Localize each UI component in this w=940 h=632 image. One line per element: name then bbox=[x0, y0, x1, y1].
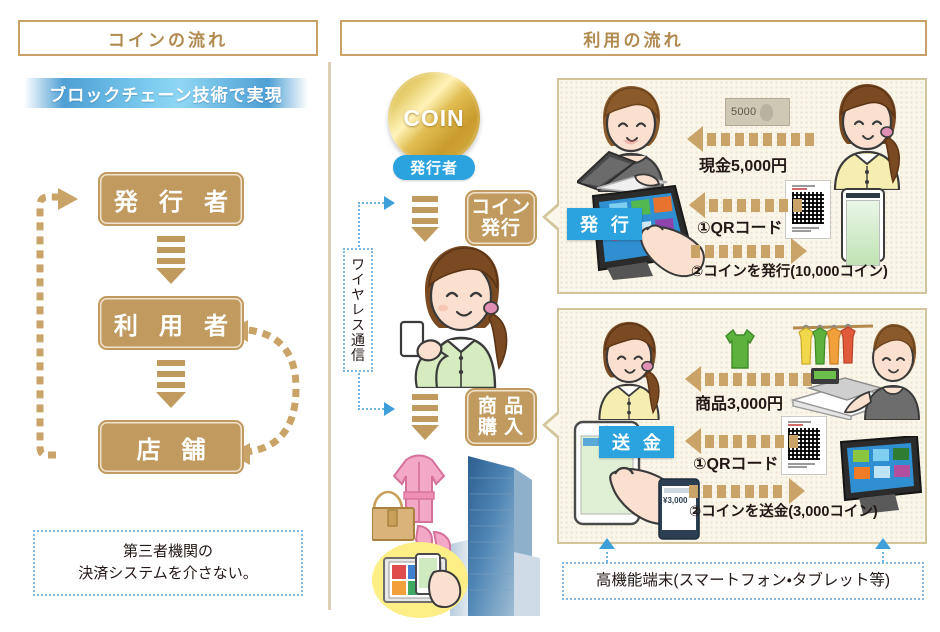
third-party-note: 第三者機関の 決済システムを介さない。 bbox=[33, 530, 303, 596]
issue-step2-caption: ②コインを発行(10,000コイン) bbox=[691, 260, 888, 281]
coin-icon: COIN bbox=[388, 72, 480, 164]
arrow-user-to-store bbox=[156, 360, 186, 408]
note-line-1: 第三者機関の bbox=[123, 541, 213, 563]
right-section-header: 利用の流れ bbox=[340, 20, 927, 56]
arrow-coin-to-user bbox=[411, 196, 439, 242]
panel-coin-issue: 5000 現金5,000円 bbox=[557, 78, 927, 294]
cash-caption: 現金5,000円 bbox=[699, 152, 787, 176]
wireless-label: ワイヤレス通信 bbox=[343, 248, 373, 372]
buy-step2-caption: ②コインを送金(3,000コイン) bbox=[689, 500, 878, 521]
issuer-character bbox=[577, 84, 689, 192]
coin-issuer-pill: 発行者 bbox=[393, 155, 475, 180]
action-buy-line2: 購 入 bbox=[478, 417, 524, 438]
coin-label: COIN bbox=[403, 105, 464, 132]
shop-scene bbox=[787, 316, 921, 425]
goods-caption: 商品3,000円 bbox=[695, 390, 783, 414]
role-box-issuer: 発 行 者 bbox=[98, 172, 244, 226]
role-box-store: 店 舗 bbox=[98, 420, 244, 474]
action-issue-line2: 発行 bbox=[481, 218, 521, 239]
wireless-arrow-top-icon bbox=[384, 196, 395, 210]
infographic-root: コインの流れ 利用の流れ ブロックチェーン技術で実現 発 行 者 利 用 者 店… bbox=[0, 0, 940, 632]
action-box-goods-purchase: 商 品 購 入 bbox=[465, 388, 537, 446]
wireless-bracket-bottom bbox=[358, 408, 384, 410]
terminal-note: 高機能端末(スマートフォン・タブレット等) bbox=[562, 562, 924, 600]
phone-status-bar bbox=[846, 193, 880, 198]
terminal-arrow-left-icon bbox=[599, 538, 615, 549]
wireless-bracket-top bbox=[358, 202, 384, 204]
arrow-cash-flow bbox=[687, 126, 819, 152]
customer-character-2 bbox=[579, 320, 679, 420]
cash-bill: 5000 bbox=[725, 98, 790, 126]
action-buy-line1: 商 品 bbox=[478, 396, 524, 417]
issue-device-flag: 発 行 bbox=[567, 208, 642, 240]
arrow-issuer-to-user bbox=[156, 236, 186, 284]
note-line-2: 決済システムを介さない。 bbox=[78, 563, 258, 585]
terminal-arrow-right-icon bbox=[875, 538, 891, 549]
amount-phone-value: ¥3,000 bbox=[663, 496, 687, 505]
wireless-arrow-bottom-icon bbox=[384, 402, 395, 416]
issue-step1-caption: ①QRコード bbox=[697, 214, 783, 238]
user-character bbox=[395, 238, 525, 388]
action-issue-line1: コイン bbox=[471, 197, 531, 218]
shopping-scene bbox=[372, 448, 562, 628]
panel-goods-purchase: 商品3,000円 bbox=[557, 308, 927, 544]
panel-issue-notch-inner-icon bbox=[546, 205, 560, 229]
role-box-user: 利 用 者 bbox=[98, 296, 244, 350]
panel-buy-notch-inner-icon bbox=[546, 413, 560, 437]
buy-step1-caption: ①QRコード bbox=[693, 450, 779, 474]
phone-screen bbox=[846, 200, 880, 266]
arrow-user-to-purchase bbox=[411, 394, 439, 440]
send-device-flag: 送 金 bbox=[599, 426, 674, 458]
customer-character-1 bbox=[817, 82, 917, 190]
user-phone-1[interactable] bbox=[841, 188, 885, 262]
